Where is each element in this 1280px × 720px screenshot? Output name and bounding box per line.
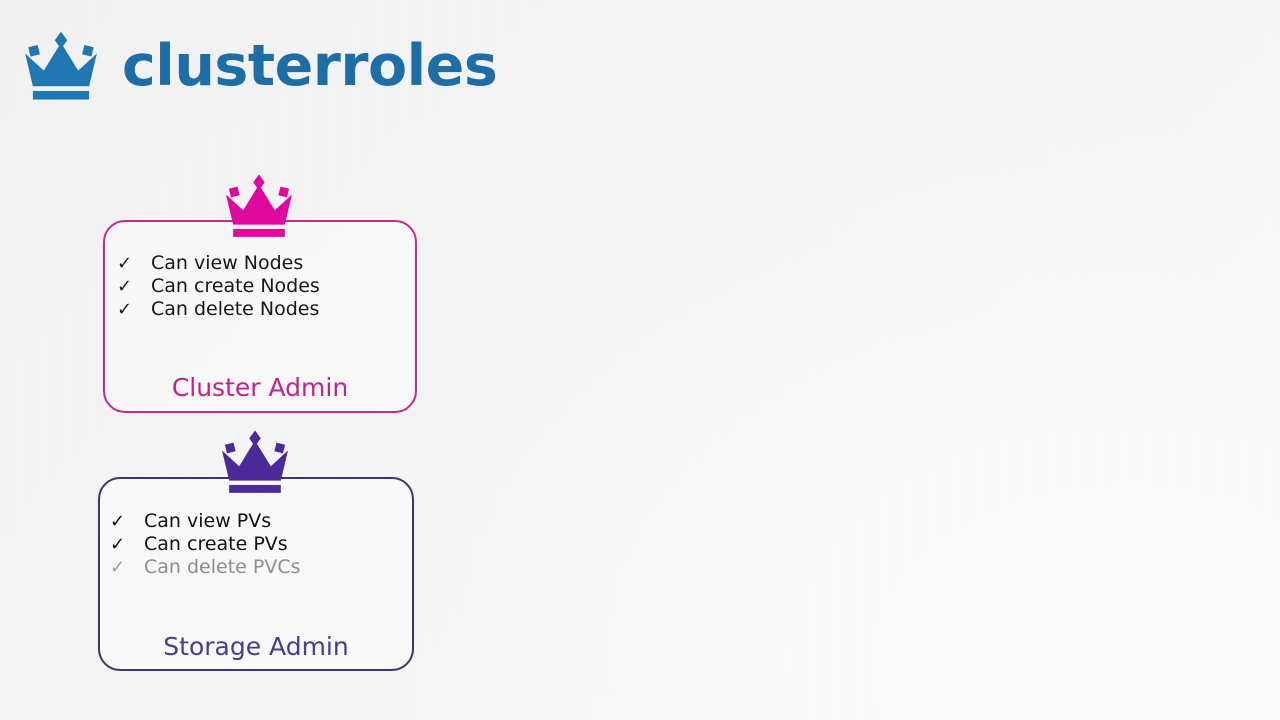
permission-label: Can create Nodes xyxy=(151,275,320,298)
list-item: ✓ Can view PVs xyxy=(110,510,412,533)
list-item: ✓ Can view Nodes xyxy=(117,252,415,275)
page-header: clusterroles xyxy=(22,30,497,102)
permission-label: Can view Nodes xyxy=(151,252,303,275)
permission-list: ✓ Can view PVs ✓ Can create PVs ✓ Can de… xyxy=(100,510,412,579)
check-icon: ✓ xyxy=(110,533,144,556)
list-item: ✓ Can delete Nodes xyxy=(117,298,415,321)
permission-label: Can delete PVCs xyxy=(144,556,301,579)
role-title: Cluster Admin xyxy=(105,375,415,400)
crown-icon xyxy=(22,30,100,102)
check-icon: ✓ xyxy=(117,298,151,321)
list-item: ✓ Can create PVs xyxy=(110,533,412,556)
list-item: ✓ Can create Nodes xyxy=(117,275,415,298)
role-card-cluster-admin[interactable]: ✓ Can view Nodes ✓ Can create Nodes ✓ Ca… xyxy=(103,220,417,413)
slide-canvas: clusterroles ✓ Can view Nodes ✓ Can crea… xyxy=(0,0,1280,720)
role-card-storage-admin[interactable]: ✓ Can view PVs ✓ Can create PVs ✓ Can de… xyxy=(98,477,414,671)
crown-icon xyxy=(219,429,291,495)
check-icon: ✓ xyxy=(117,275,151,298)
check-icon: ✓ xyxy=(110,556,144,579)
check-icon: ✓ xyxy=(117,252,151,275)
permission-label: Can create PVs xyxy=(144,533,288,556)
permission-label: Can view PVs xyxy=(144,510,271,533)
page-title: clusterroles xyxy=(122,38,497,95)
list-item: ✓ Can delete PVCs xyxy=(110,556,412,579)
crown-icon xyxy=(223,173,295,239)
role-title: Storage Admin xyxy=(100,634,412,659)
check-icon: ✓ xyxy=(110,510,144,533)
permission-list: ✓ Can view Nodes ✓ Can create Nodes ✓ Ca… xyxy=(105,252,415,321)
permission-label: Can delete Nodes xyxy=(151,298,319,321)
